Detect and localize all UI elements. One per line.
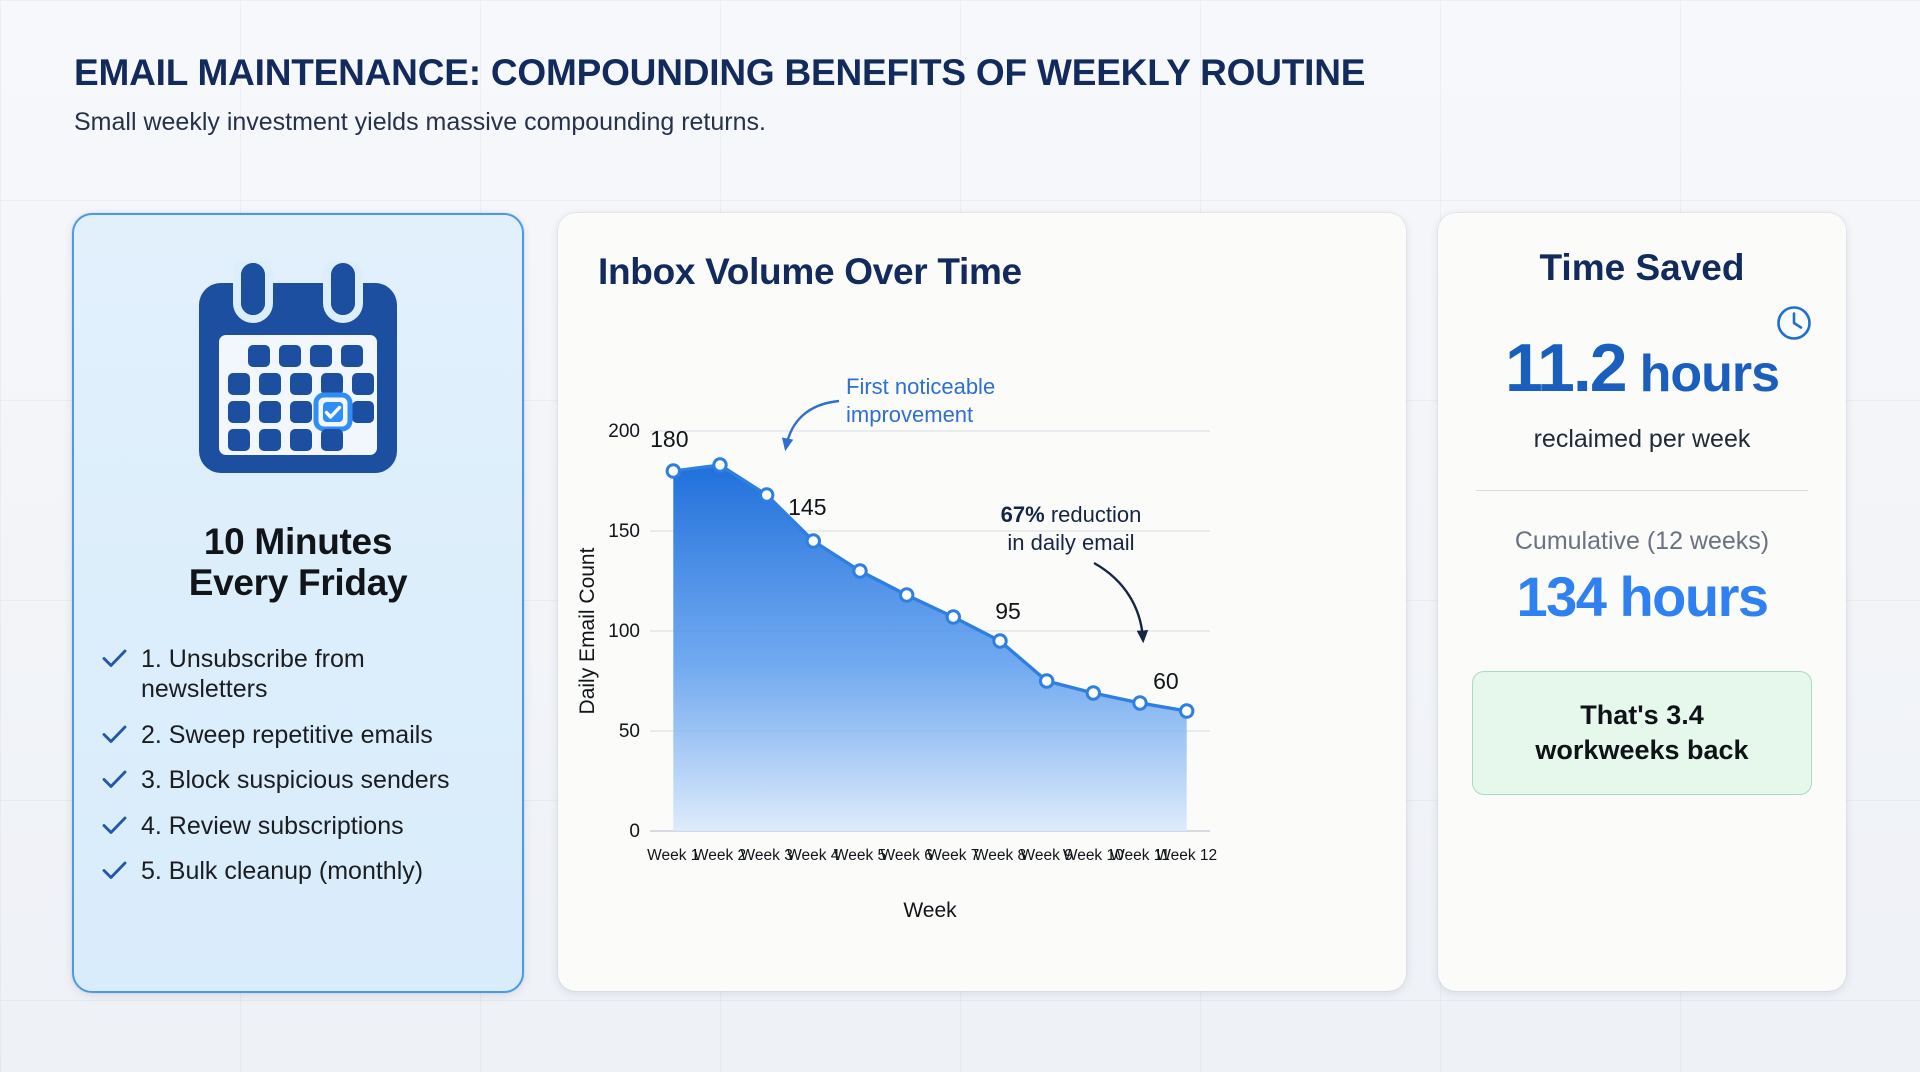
y-tick-label: 200 bbox=[608, 421, 640, 442]
annotation-line1: 67% reduction bbox=[1001, 502, 1142, 527]
data-point-marker bbox=[901, 589, 913, 601]
routine-card: 10 Minutes Every Friday 1. Unsubscribe f… bbox=[72, 213, 524, 993]
page-subtitle: Small weekly investment yields massive c… bbox=[74, 108, 1774, 137]
workweeks-badge-line1: That's 3.4 bbox=[1580, 700, 1703, 730]
annotation-line2: improvement bbox=[846, 402, 973, 427]
list-item: 2. Sweep repetitive emails bbox=[102, 720, 522, 751]
x-axis-title: Week bbox=[903, 899, 957, 922]
annotation-first-improvement: First noticeable improvement bbox=[786, 374, 995, 447]
checklist-item-label: 5. Bulk cleanup (monthly) bbox=[141, 856, 423, 887]
checklist: 1. Unsubscribe from newsletters 2. Sweep… bbox=[102, 644, 522, 887]
data-point-label: 60 bbox=[1153, 668, 1179, 694]
workweeks-badge-line2: workweeks back bbox=[1535, 735, 1748, 765]
checklist-item-label: 3. Block suspicious senders bbox=[141, 765, 449, 796]
checklist-item-label: 4. Review subscriptions bbox=[141, 811, 404, 842]
check-icon bbox=[102, 649, 127, 673]
x-tick-label: Week 2 bbox=[694, 847, 746, 864]
check-icon bbox=[102, 770, 127, 794]
annotation-rest: reduction bbox=[1045, 502, 1142, 527]
time-saved-card: Time Saved 11.2 hours reclaimed per week… bbox=[1438, 213, 1846, 991]
chart-card: Inbox Volume Over Time bbox=[558, 213, 1406, 991]
data-point-marker bbox=[854, 565, 866, 577]
data-point-marker bbox=[667, 465, 679, 477]
chart-x-axis: Week 1Week 2Week 3Week 4Week 5Week 6Week… bbox=[647, 847, 1217, 864]
divider bbox=[1476, 490, 1808, 491]
y-axis-title: Daily Email Count bbox=[576, 547, 599, 714]
data-point-label: 180 bbox=[650, 426, 688, 452]
list-item: 4. Review subscriptions bbox=[102, 811, 522, 842]
annotation-line1: First noticeable bbox=[846, 374, 995, 399]
data-point-label: 95 bbox=[995, 598, 1021, 624]
time-saved-unit: hours bbox=[1640, 344, 1779, 404]
page-title: EMAIL MAINTENANCE: COMPOUNDING BENEFITS … bbox=[74, 52, 1774, 94]
y-tick-label: 150 bbox=[608, 521, 640, 542]
x-tick-label: Week 1 bbox=[647, 847, 699, 864]
x-tick-label: Week 7 bbox=[927, 847, 979, 864]
data-point-marker bbox=[994, 635, 1006, 647]
data-point-marker bbox=[1181, 705, 1193, 717]
checklist-item-label: 2. Sweep repetitive emails bbox=[141, 720, 433, 751]
time-saved-title: Time Saved bbox=[1464, 247, 1820, 289]
list-item: 3. Block suspicious senders bbox=[102, 765, 522, 796]
calendar-check-icon bbox=[74, 261, 522, 483]
data-point-marker bbox=[761, 489, 773, 501]
chart-y-axis: 200 150 100 50 0 Daily Email Count bbox=[576, 421, 640, 842]
reclaimed-label: reclaimed per week bbox=[1464, 425, 1820, 454]
cards-row: 10 Minutes Every Friday 1. Unsubscribe f… bbox=[0, 213, 1920, 1003]
annotation-bold: 67% bbox=[1001, 502, 1045, 527]
data-point-marker bbox=[1087, 687, 1099, 699]
y-tick-label: 50 bbox=[619, 721, 640, 742]
cumulative-label: Cumulative (12 weeks) bbox=[1464, 527, 1820, 556]
workweeks-badge: That's 3.4 workweeks back bbox=[1472, 671, 1812, 795]
x-tick-label: Week 5 bbox=[834, 847, 886, 864]
x-tick-label: Week 8 bbox=[974, 847, 1026, 864]
check-icon bbox=[102, 725, 127, 749]
data-point-marker bbox=[1041, 675, 1053, 687]
x-tick-label: Week 4 bbox=[787, 847, 840, 864]
y-tick-label: 100 bbox=[608, 621, 640, 642]
data-point-marker bbox=[947, 611, 959, 623]
data-point-marker bbox=[807, 535, 819, 547]
chart-title: Inbox Volume Over Time bbox=[598, 251, 1406, 293]
checklist-item-label: 1. Unsubscribe from newsletters bbox=[141, 644, 471, 705]
time-saved-value: 11.2 bbox=[1505, 329, 1626, 407]
data-point-marker bbox=[714, 459, 726, 471]
chart-plot-area: 200 150 100 50 0 Daily Email Count bbox=[558, 309, 1406, 989]
check-icon bbox=[102, 816, 127, 840]
routine-heading: 10 Minutes Every Friday bbox=[74, 521, 522, 604]
cumulative-value: 134 hours bbox=[1464, 564, 1820, 629]
clock-icon bbox=[1774, 303, 1814, 348]
check-icon bbox=[102, 861, 127, 885]
y-tick-label: 0 bbox=[629, 821, 640, 842]
routine-heading-line2: Every Friday bbox=[189, 562, 408, 603]
x-tick-label: Week 6 bbox=[881, 847, 933, 864]
routine-heading-line1: 10 Minutes bbox=[204, 521, 392, 562]
list-item: 1. Unsubscribe from newsletters bbox=[102, 644, 522, 705]
time-saved-stat: 11.2 hours bbox=[1464, 329, 1820, 407]
data-point-marker bbox=[1134, 697, 1146, 709]
calendar-check-icon-svg bbox=[183, 261, 413, 483]
data-point-label: 145 bbox=[788, 494, 826, 520]
infographic-page: EMAIL MAINTENANCE: COMPOUNDING BENEFITS … bbox=[0, 0, 1920, 1072]
x-tick-label: Week 12 bbox=[1156, 847, 1217, 864]
header: EMAIL MAINTENANCE: COMPOUNDING BENEFITS … bbox=[74, 52, 1774, 137]
list-item: 5. Bulk cleanup (monthly) bbox=[102, 856, 522, 887]
annotation-line2: in daily email bbox=[1007, 530, 1134, 555]
inbox-volume-area-chart: 200 150 100 50 0 Daily Email Count bbox=[558, 309, 1406, 989]
x-tick-label: Week 3 bbox=[741, 847, 793, 864]
annotation-reduction: 67% reduction in daily email bbox=[1001, 502, 1143, 639]
